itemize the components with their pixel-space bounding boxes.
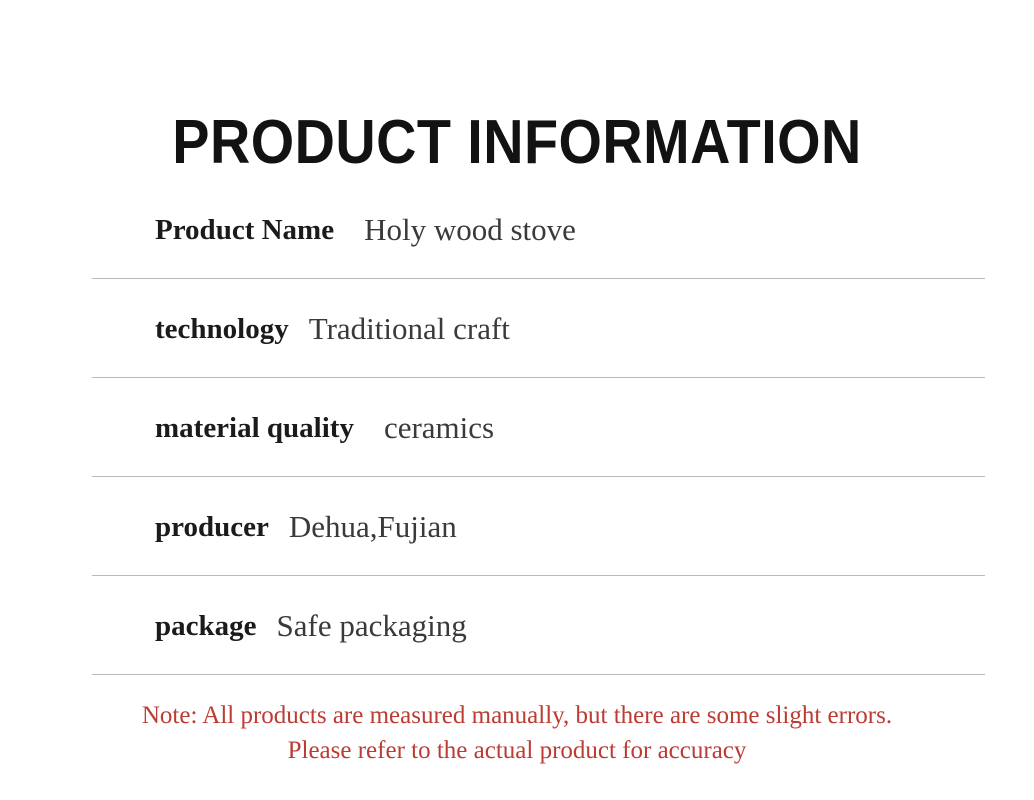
note-line-1: Note: All products are measured manually… bbox=[0, 698, 1034, 733]
spec-value-material-quality: ceramics bbox=[384, 410, 494, 446]
spec-label-package: package bbox=[155, 609, 257, 643]
spec-value-product-name: Holy wood stove bbox=[364, 212, 576, 248]
product-spec-table: Product Name Holy wood stove technology … bbox=[92, 180, 985, 675]
table-row-content: producer Dehua,Fujian bbox=[155, 477, 457, 576]
product-information-page: PRODUCT INFORMATION Product Name Holy wo… bbox=[0, 0, 1034, 800]
table-row: technology Traditional craft bbox=[92, 279, 985, 378]
spec-label-producer: producer bbox=[155, 510, 269, 544]
table-row-content: technology Traditional craft bbox=[155, 279, 510, 378]
note-line-2: Please refer to the actual product for a… bbox=[0, 733, 1034, 768]
measurement-disclaimer-note: Note: All products are measured manually… bbox=[0, 698, 1034, 768]
table-row: package Safe packaging bbox=[92, 576, 985, 675]
table-row-content: Product Name Holy wood stove bbox=[155, 180, 576, 279]
table-row: Product Name Holy wood stove bbox=[92, 180, 985, 279]
table-row: material quality ceramics bbox=[92, 378, 985, 477]
table-row-content: package Safe packaging bbox=[155, 576, 467, 675]
spec-label-technology: technology bbox=[155, 312, 289, 346]
spec-value-package: Safe packaging bbox=[277, 608, 467, 644]
spec-label-product-name: Product Name bbox=[155, 213, 334, 247]
table-row: producer Dehua,Fujian bbox=[92, 477, 985, 576]
spec-label-material-quality: material quality bbox=[155, 411, 354, 445]
table-row-content: material quality ceramics bbox=[155, 378, 494, 477]
spec-value-producer: Dehua,Fujian bbox=[289, 509, 457, 545]
spec-value-technology: Traditional craft bbox=[309, 311, 510, 347]
page-title: PRODUCT INFORMATION bbox=[172, 108, 861, 178]
